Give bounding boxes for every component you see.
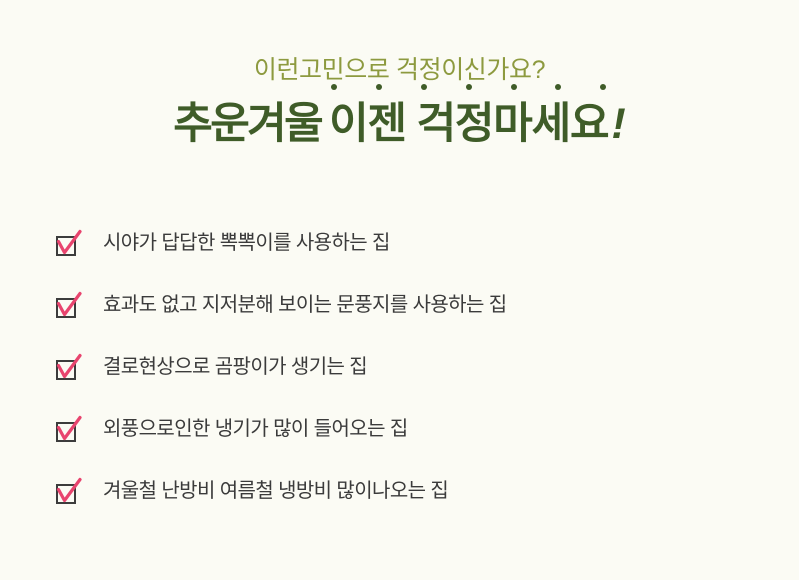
list-item-label: 외풍으로인한 냉기가 많이 들어오는 집 (103, 417, 408, 441)
problem-checklist: 시야가 답답한 뽁뽁이를 사용하는 집 효과도 없고 지저분해 보이는 문풍지를… (0, 212, 799, 522)
list-item-label: 겨울철 난방비 여름철 냉방비 많이나오는 집 (103, 479, 448, 503)
headline-emphasis-text: 이젠 걱정마세요 (329, 100, 608, 148)
list-item-label: 효과도 없고 지저분해 보이는 문풍지를 사용하는 집 (103, 293, 507, 317)
checkmark-glyph (53, 290, 83, 320)
checked-checkbox-icon (53, 476, 83, 506)
list-item-label: 결로현상으로 곰팡이가 생기는 집 (103, 355, 367, 379)
checked-checkbox-icon (53, 228, 83, 258)
list-item-label: 시야가 답답한 뽁뽁이를 사용하는 집 (103, 231, 390, 255)
checked-checkbox-icon (53, 414, 83, 444)
headline-emphasis-group: 이젠 걱정마세요 (329, 99, 608, 150)
emphasis-dot (600, 84, 606, 90)
emphasis-dot (555, 84, 561, 90)
checkmark-glyph (53, 352, 83, 382)
list-item: 외풍으로인한 냉기가 많이 들어오는 집 (0, 398, 799, 460)
list-item: 효과도 없고 지저분해 보이는 문풍지를 사용하는 집 (0, 274, 799, 336)
checkmark-glyph (53, 414, 83, 444)
heading-block: 이런고민으로 걱정이신가요? 추운겨울이젠 걱정마세요! (0, 0, 799, 149)
headline-exclamation-mark: ! (611, 99, 625, 150)
list-item: 결로현상으로 곰팡이가 생기는 집 (0, 336, 799, 398)
checked-checkbox-icon (53, 290, 83, 320)
promo-subtitle: 이런고민으로 걱정이신가요? (0, 0, 799, 85)
list-item: 시야가 답답한 뽁뽁이를 사용하는 집 (0, 212, 799, 274)
promo-headline: 추운겨울이젠 걱정마세요! (0, 85, 799, 150)
promo-banner: 이런고민으로 걱정이신가요? 추운겨울이젠 걱정마세요! 시야가 답답한 뽁뽁이… (0, 0, 799, 580)
checked-checkbox-icon (53, 352, 83, 382)
list-item: 겨울철 난방비 여름철 냉방비 많이나오는 집 (0, 460, 799, 522)
checkmark-glyph (53, 228, 83, 258)
headline-lead-text: 추운겨울 (173, 99, 321, 150)
checkmark-glyph (53, 476, 83, 506)
